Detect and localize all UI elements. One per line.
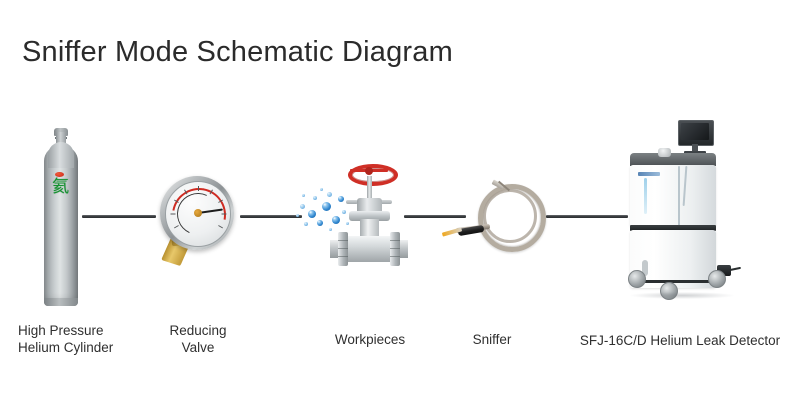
leak-particle	[317, 220, 323, 226]
gate-valve-icon	[330, 164, 408, 274]
leak-particle	[300, 204, 305, 209]
leak-particle	[320, 188, 323, 191]
caption-line: High Pressure	[18, 322, 113, 339]
caption-leak-detector: SFJ-16C/D Helium Leak Detector	[560, 332, 800, 349]
detector-inlet-port	[658, 148, 671, 157]
gauge-tick	[222, 214, 227, 215]
valve-handwheel	[348, 164, 398, 186]
gauge-tick	[171, 214, 176, 215]
flange-rib	[390, 240, 400, 241]
gauge-dial-face	[165, 181, 231, 247]
connector-cylinder-to-valve	[82, 215, 156, 218]
leak-particle	[302, 194, 305, 197]
caption-helium-cylinder: High Pressure Helium Cylinder	[18, 322, 113, 356]
flange-rib	[338, 240, 348, 241]
caption-workpieces: Workpieces	[318, 331, 422, 348]
probe-coiled-cable-inner	[483, 189, 537, 243]
valve-flange-left	[338, 232, 348, 266]
cylinder-base	[44, 298, 78, 306]
handwheel-hub	[365, 167, 373, 175]
leak-detector-cart-icon	[622, 120, 742, 300]
cylinder-body	[44, 146, 78, 306]
cylinder-gas-label: 氦	[52, 178, 70, 196]
gauge-tick	[198, 186, 199, 191]
flange-rib	[390, 256, 400, 257]
caption-line: Helium Cylinder	[18, 339, 113, 356]
detector-accent-stripe	[644, 178, 647, 214]
valve-flange-right	[390, 232, 400, 266]
connector-valve-to-workpieces	[240, 215, 302, 218]
page-title: Sniffer Mode Schematic Diagram	[22, 36, 453, 69]
caption-line: Sniffer	[452, 331, 532, 348]
detector-brand-logo	[638, 172, 660, 176]
flange-rib	[390, 248, 400, 249]
cart-caster	[708, 270, 726, 288]
leak-particle	[313, 196, 317, 200]
flange-rib	[338, 248, 348, 249]
caption-line: Workpieces	[318, 331, 422, 348]
caption-line: Reducing	[148, 322, 248, 339]
connector-sniffer-to-detector	[546, 215, 628, 218]
cylinder-shoulder	[48, 142, 74, 168]
flange-rib	[338, 256, 348, 257]
schematic-diagram-canvas: Sniffer Mode Schematic Diagram 氦	[0, 0, 800, 400]
sniffer-probe-icon	[442, 182, 542, 258]
leak-particle	[308, 210, 316, 218]
caption-sniffer: Sniffer	[452, 331, 532, 348]
gauge-hub	[194, 209, 202, 217]
leak-particle	[304, 222, 308, 226]
caption-line: SFJ-16C/D Helium Leak Detector	[560, 332, 800, 349]
gas-cylinder-icon: 氦	[44, 128, 78, 306]
cart-caster	[628, 270, 646, 288]
detector-display-screen	[681, 123, 709, 140]
detector-ground-shadow	[630, 292, 734, 299]
pressure-gauge-icon	[158, 176, 238, 268]
caption-line: Valve	[148, 339, 248, 356]
caption-reducing-valve: Reducing Valve	[148, 322, 248, 356]
leak-particle	[296, 214, 299, 217]
